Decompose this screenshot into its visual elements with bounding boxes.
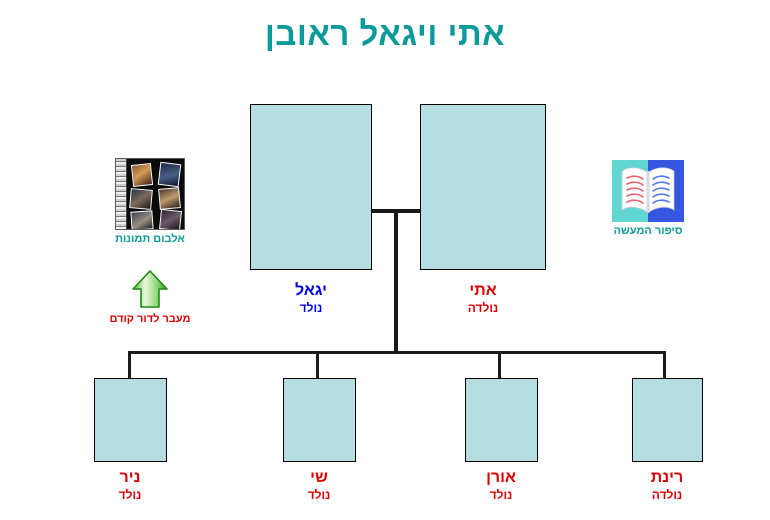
person-status-nir: נולד bbox=[75, 489, 185, 503]
person-photo-rinat[interactable] bbox=[632, 378, 703, 462]
photo-album-icon[interactable] bbox=[115, 158, 185, 230]
person-label-eti[interactable]: אתי נולדה bbox=[428, 282, 538, 316]
story-caption: סיפור המעשה bbox=[598, 225, 698, 237]
album-photo bbox=[130, 210, 153, 230]
person-label-nir[interactable]: ניר נולד bbox=[75, 469, 185, 503]
child-drop-nir bbox=[128, 351, 131, 379]
person-name-nir: ניר bbox=[75, 469, 185, 487]
person-name-yigal: יגאל bbox=[256, 282, 366, 300]
family-tree-canvas: אתי ויגאל ראובן אלבום תמונות bbox=[0, 0, 770, 520]
album-photo bbox=[158, 162, 182, 187]
person-name-rinat: רינת bbox=[612, 469, 722, 487]
album-spiral bbox=[116, 159, 127, 229]
children-bus-horizontal bbox=[128, 351, 666, 354]
child-drop-rinat bbox=[663, 351, 666, 379]
person-name-shai: שי bbox=[264, 469, 374, 487]
child-drop-shai bbox=[316, 351, 319, 379]
child-drop-oren bbox=[498, 351, 501, 379]
photo-album-link[interactable]: אלבום תמונות bbox=[105, 158, 195, 245]
album-photo bbox=[158, 187, 181, 210]
person-label-rinat[interactable]: רינת נולדה bbox=[612, 469, 722, 503]
album-photo bbox=[159, 209, 182, 230]
person-status-eti: נולדה bbox=[428, 302, 538, 316]
person-photo-oren[interactable] bbox=[465, 378, 538, 462]
person-photo-yigal[interactable] bbox=[250, 104, 372, 270]
page-title: אתי ויגאל ראובן bbox=[0, 16, 770, 52]
person-photo-nir[interactable] bbox=[94, 378, 167, 462]
person-label-yigal[interactable]: יגאל נולד bbox=[256, 282, 366, 316]
person-label-oren[interactable]: אורן נולד bbox=[446, 469, 556, 503]
person-status-yigal: נולד bbox=[256, 302, 366, 316]
previous-generation-link[interactable]: מעבר לדור קודם bbox=[95, 268, 205, 325]
person-photo-shai[interactable] bbox=[283, 378, 356, 462]
person-status-rinat: נולדה bbox=[612, 489, 722, 503]
couple-connector-vertical bbox=[394, 209, 398, 353]
person-photo-eti[interactable] bbox=[420, 104, 546, 270]
open-book-icon[interactable] bbox=[612, 160, 684, 222]
person-label-shai[interactable]: שי נולד bbox=[264, 469, 374, 503]
up-arrow-icon[interactable] bbox=[129, 268, 171, 310]
person-name-eti: אתי bbox=[428, 282, 538, 300]
album-photo bbox=[129, 188, 153, 210]
album-photo bbox=[131, 163, 153, 187]
photo-album-caption: אלבום תמונות bbox=[105, 233, 195, 245]
previous-generation-caption: מעבר לדור קודם bbox=[95, 313, 205, 325]
person-name-oren: אורן bbox=[446, 469, 556, 487]
person-status-oren: נולד bbox=[446, 489, 556, 503]
person-status-shai: נולד bbox=[264, 489, 374, 503]
story-link[interactable]: סיפור המעשה bbox=[598, 160, 698, 237]
